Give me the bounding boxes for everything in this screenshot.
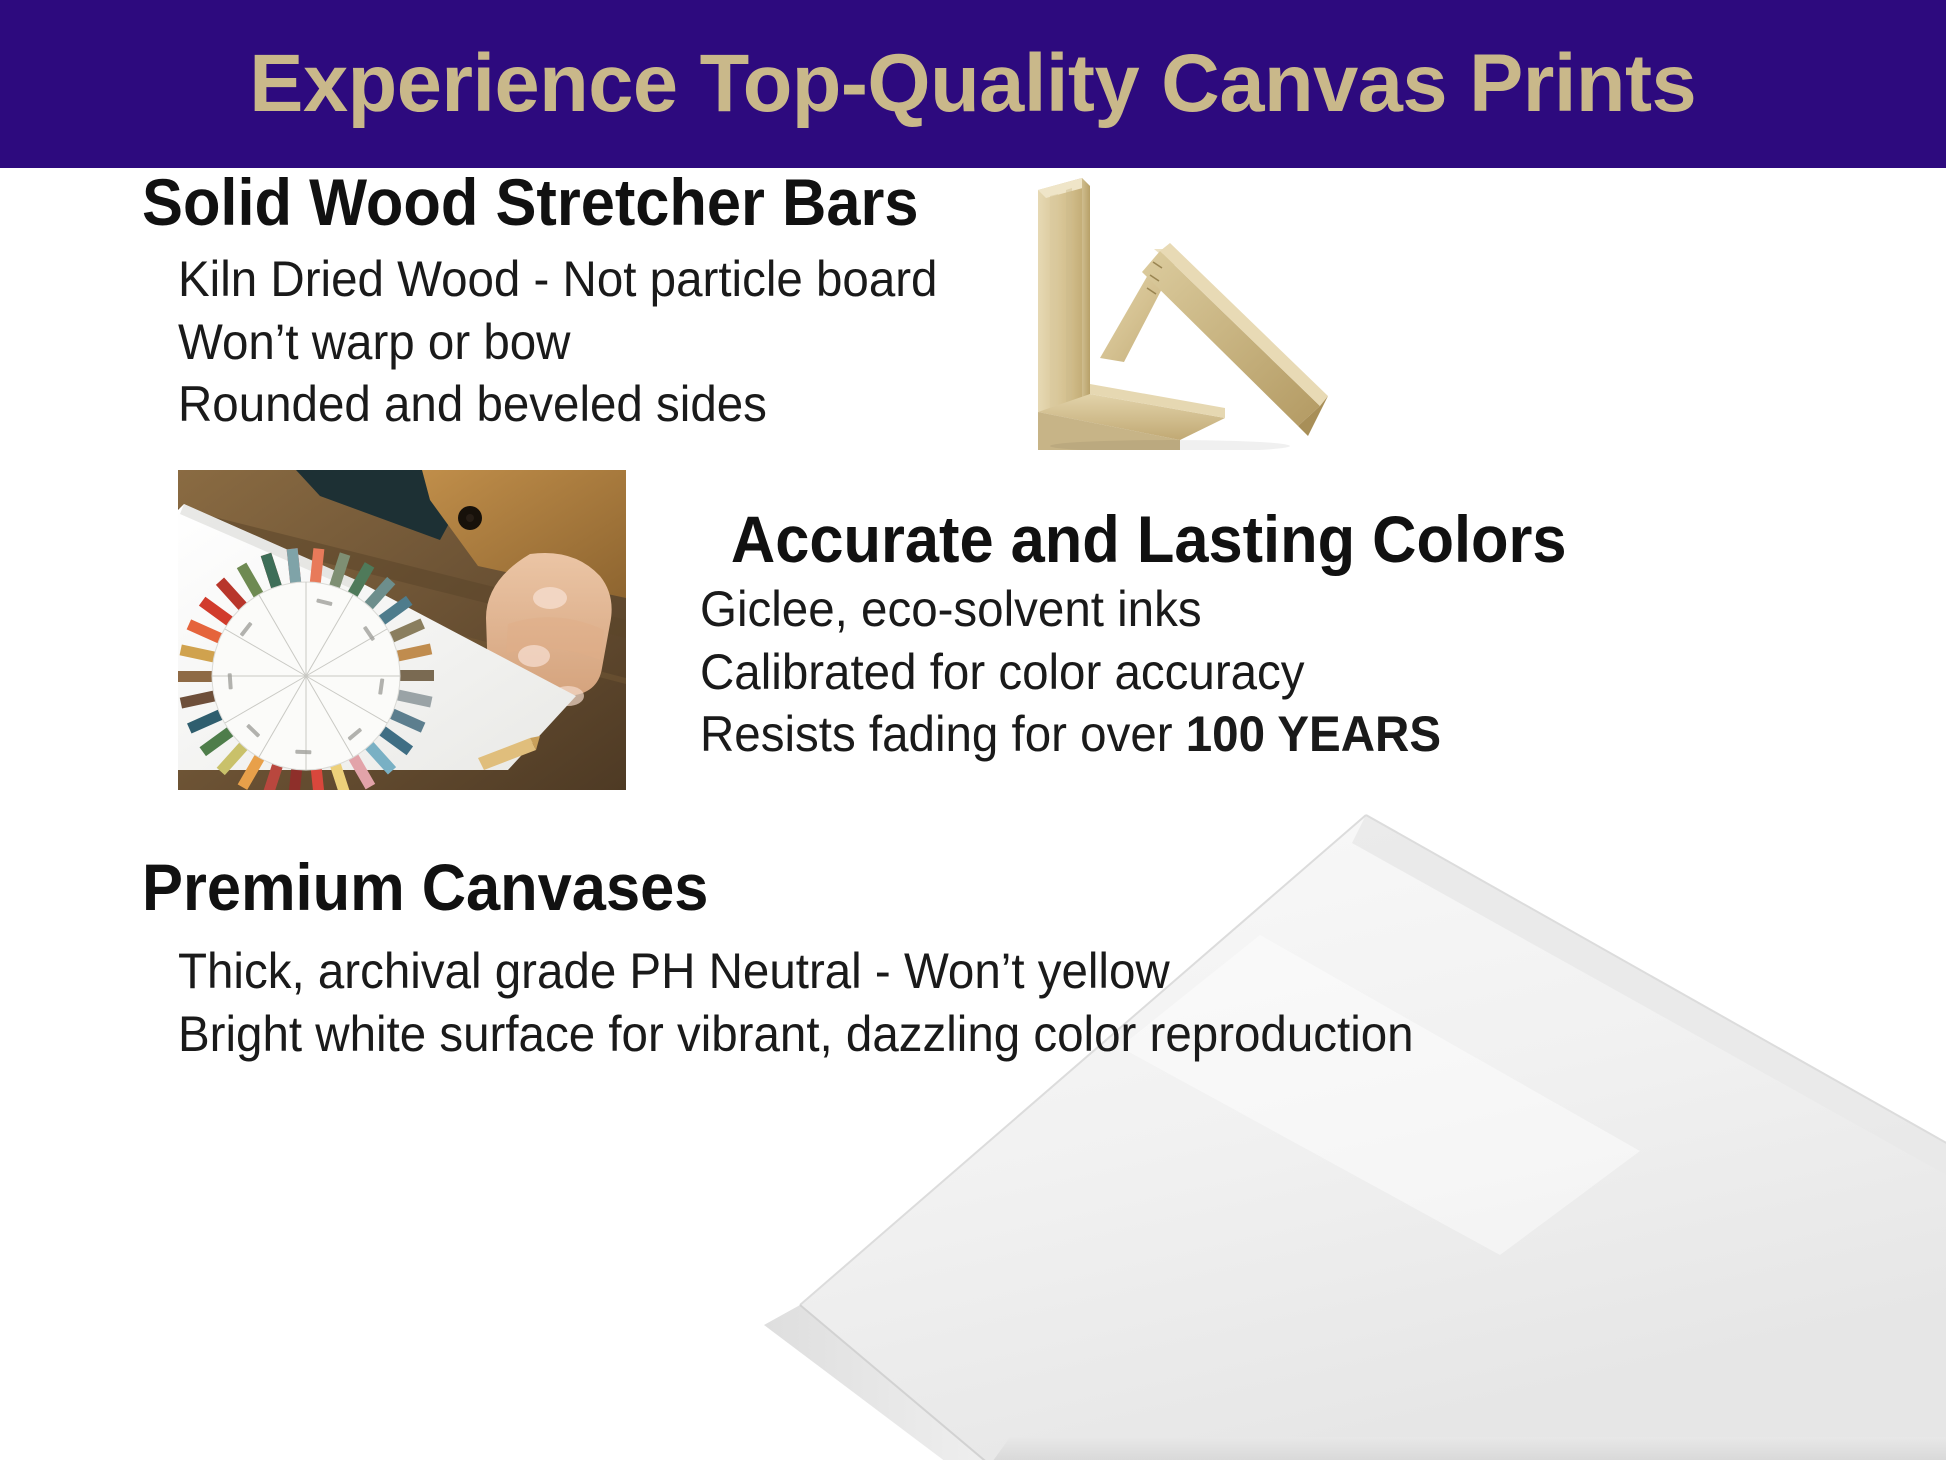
list-item: Rounded and beveled sides bbox=[178, 373, 937, 436]
bullet-list-premium-canvases: Thick, archival grade PH Neutral - Won’t… bbox=[178, 940, 1414, 1065]
page-title: Experience Top-Quality Canvas Prints bbox=[250, 43, 1697, 125]
section-heading-accurate-colors: Accurate and Lasting Colors bbox=[731, 505, 1567, 574]
list-item-emphasis: 100 YEARS bbox=[1186, 706, 1441, 762]
wood-stretcher-bars-illustration bbox=[1020, 150, 1350, 450]
blank-canvas-illustration bbox=[740, 785, 1946, 1460]
section-heading-premium-canvases: Premium Canvases bbox=[142, 853, 708, 922]
list-item: Calibrated for color accuracy bbox=[700, 641, 1441, 704]
list-item: Bright white surface for vibrant, dazzli… bbox=[178, 1003, 1414, 1066]
header-banner: Experience Top-Quality Canvas Prints bbox=[0, 0, 1946, 168]
list-item: Won’t warp or bow bbox=[178, 311, 937, 374]
list-item: Kiln Dried Wood - Not particle board bbox=[178, 248, 937, 311]
list-item-prefix: Resists fading for over bbox=[700, 706, 1186, 762]
list-item-100-years: Resists fading for over 100 YEARS bbox=[700, 703, 1441, 766]
blank-canvas-image bbox=[740, 785, 1946, 1460]
wood-stretcher-bars-image bbox=[1020, 150, 1350, 450]
infographic-slide: Experience Top-Quality Canvas Prints Sol… bbox=[0, 0, 1946, 1460]
color-wheel-illustration bbox=[178, 470, 626, 790]
color-wheel-photo bbox=[178, 470, 626, 790]
bullet-list-accurate-colors: Giclee, eco-solvent inks Calibrated for … bbox=[700, 578, 1441, 766]
list-item: Giclee, eco-solvent inks bbox=[700, 578, 1441, 641]
section-heading-stretcher-bars: Solid Wood Stretcher Bars bbox=[142, 168, 918, 237]
list-item: Thick, archival grade PH Neutral - Won’t… bbox=[178, 940, 1414, 1003]
bullet-list-stretcher-bars: Kiln Dried Wood - Not particle board Won… bbox=[178, 248, 937, 436]
